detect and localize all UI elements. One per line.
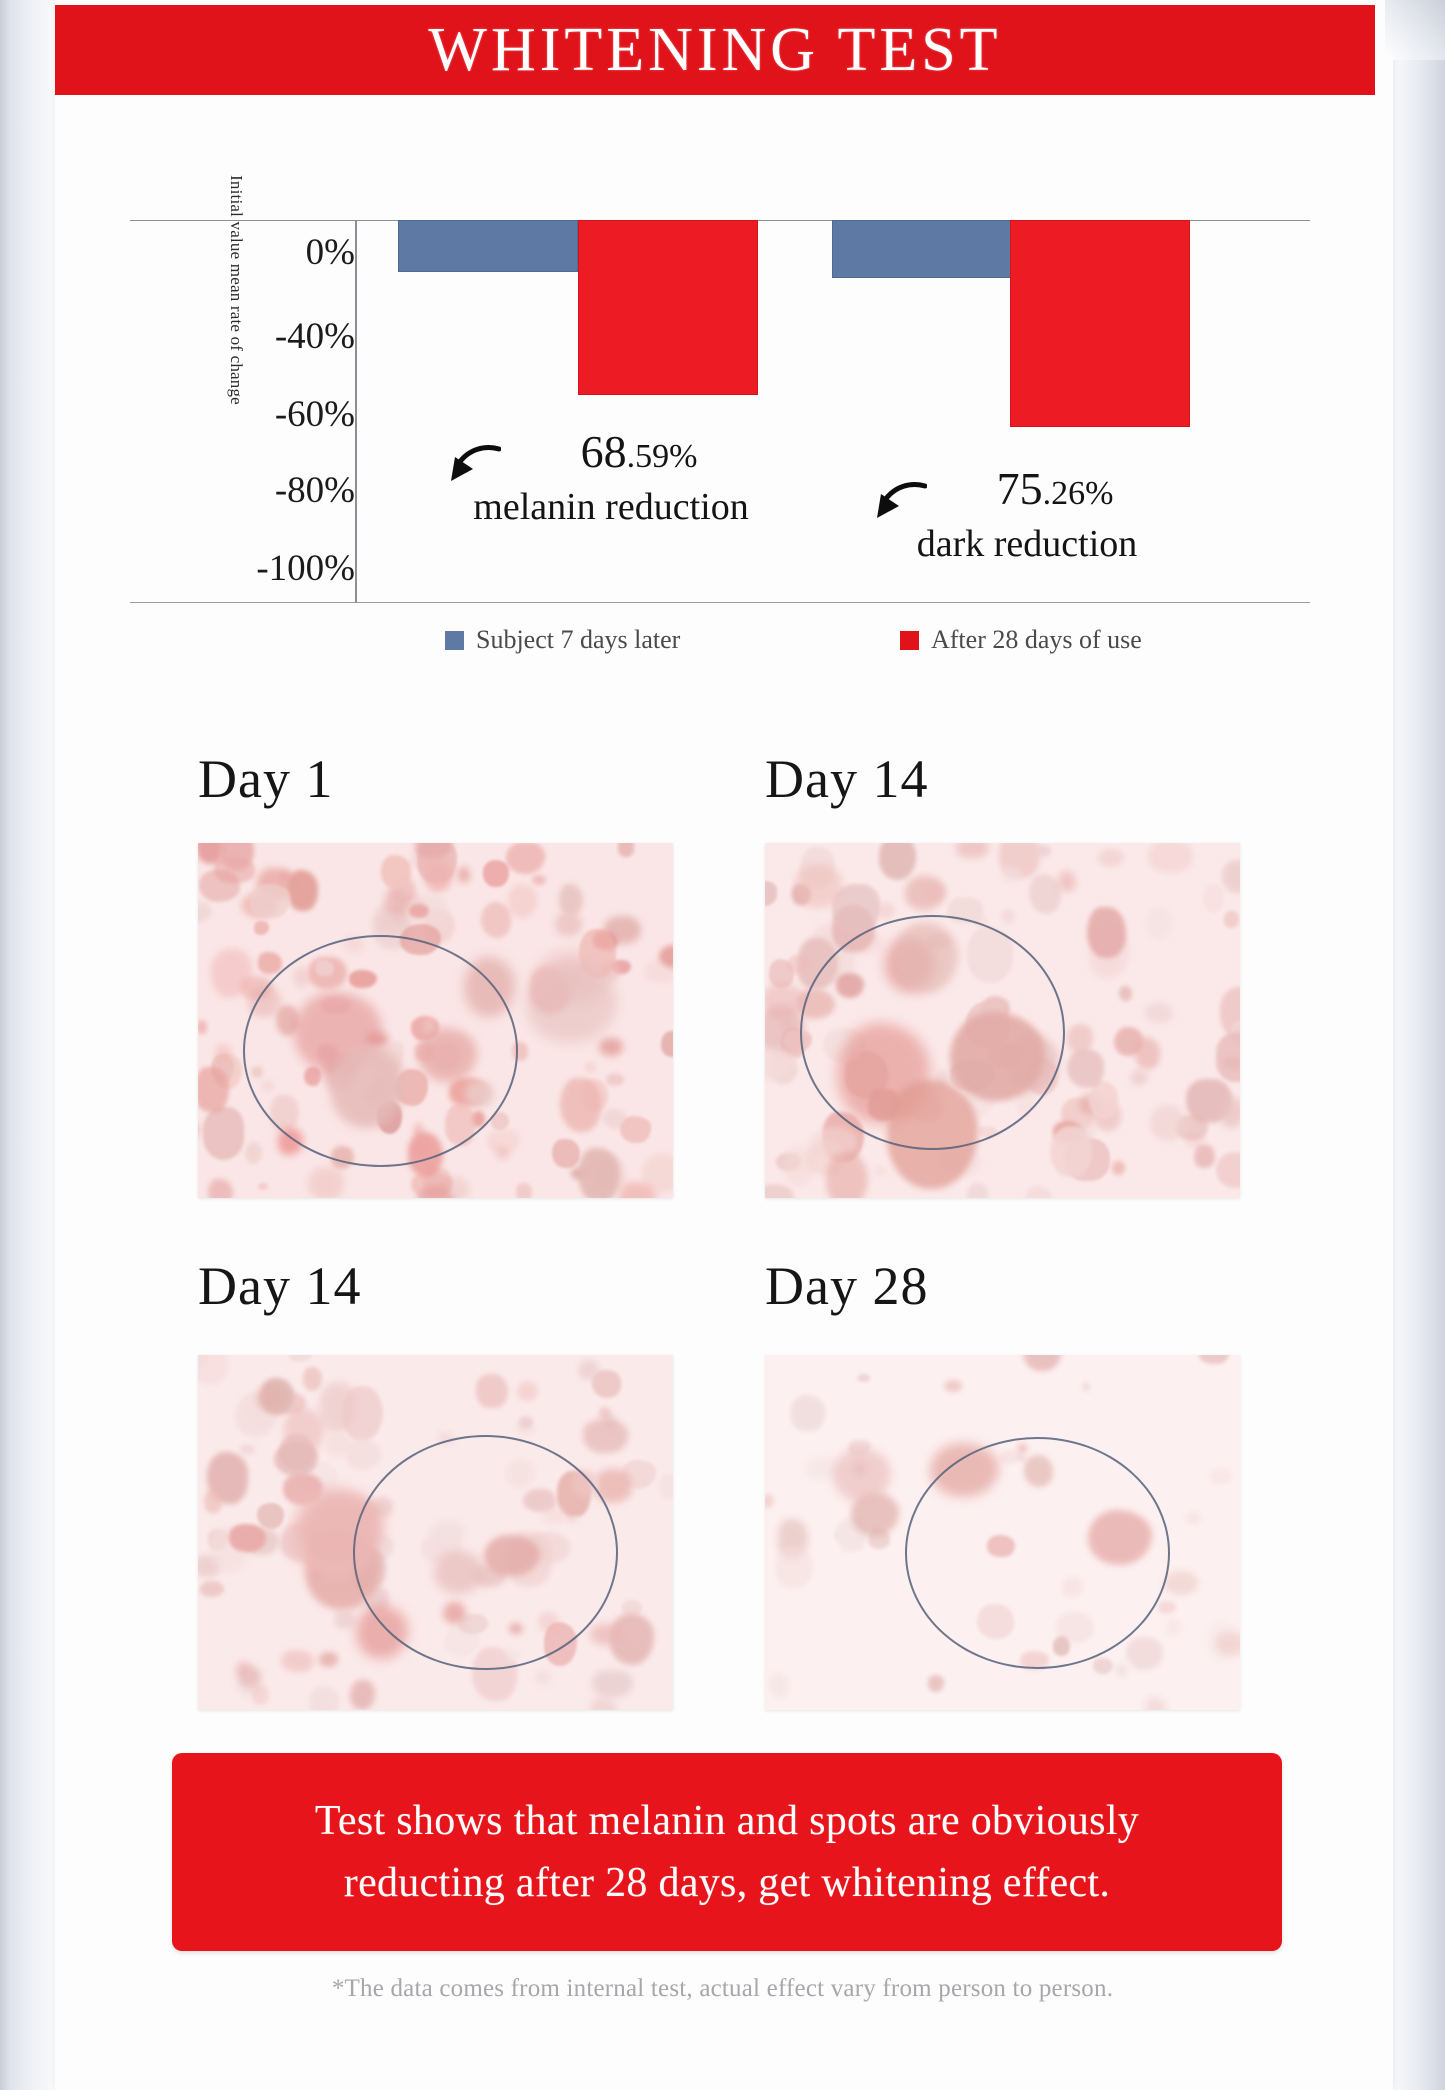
micrograph-cell-blob <box>967 1183 989 1199</box>
micrograph-cell-blob <box>203 1107 244 1160</box>
micrograph-cell-blob <box>1024 1186 1054 1198</box>
micrograph-cell-blob <box>350 1680 375 1710</box>
micrograph-cell-blob <box>1222 860 1240 893</box>
micrograph-cell-blob <box>483 860 509 888</box>
micrograph-cell-blob <box>346 1439 381 1470</box>
banner-line-2: reducting after 28 days, get whitening e… <box>344 1859 1110 1907</box>
micrograph-cell-blob <box>1082 1382 1090 1392</box>
micrograph-cell-blob <box>334 1611 355 1629</box>
micrograph-cell-blob <box>1186 1513 1201 1523</box>
annotation-melanin: 68.5968.59% melanin reduction <box>416 428 806 529</box>
micrograph-highlight-circle <box>905 1437 1170 1669</box>
micrograph-cell-blob <box>659 1474 673 1499</box>
micrograph-image-day14-b <box>198 1355 673 1710</box>
micrograph-cell-blob <box>1087 907 1125 958</box>
micrograph-cell-blob <box>254 921 269 935</box>
micrograph-cell-blob <box>606 1073 624 1087</box>
micrograph-cell-blob <box>1224 911 1239 928</box>
micrograph-cell-blob <box>496 1147 509 1159</box>
micrograph-cell-blob <box>308 1167 344 1198</box>
micrograph-cell-blob <box>1199 1355 1228 1364</box>
micrograph-cell-blob <box>1001 866 1022 883</box>
header-banner: WHITENING TEST <box>55 5 1375 95</box>
micrograph-cell-blob <box>236 1662 251 1676</box>
micrograph-cell-blob <box>274 1442 319 1476</box>
micrograph-cell-blob <box>1037 845 1051 857</box>
micrograph-cell-blob <box>1148 843 1193 873</box>
annotation-dark: 75.2675.26% dark reduction <box>832 465 1222 566</box>
micrograph-highlight-circle <box>353 1435 618 1670</box>
micrograph-cell-blob <box>1144 1003 1173 1023</box>
micrograph-cell-blob <box>599 1407 611 1419</box>
y-tick-label-60: -60% <box>175 396 355 433</box>
micrograph-cell-blob <box>1135 1037 1160 1069</box>
micrograph-cell-blob <box>257 1503 284 1529</box>
micrograph-cell-blob <box>252 1685 268 1705</box>
bar-chart: Initial value mean rate of change 0% -40… <box>130 220 1310 680</box>
conclusion-banner: Test shows that melanin and spots are ob… <box>172 1753 1282 1951</box>
micrograph-image-day28 <box>765 1355 1240 1710</box>
micrograph-cell-blob <box>956 843 989 858</box>
micrograph-cell-blob <box>517 1381 539 1401</box>
micrograph-cell-blob <box>424 860 453 892</box>
annotation-dark-value: 75.2675.26% <box>832 465 1222 516</box>
micrograph-cell-blob <box>590 1697 618 1710</box>
micrograph-cell-blob <box>578 1360 599 1380</box>
micrograph-cell-blob <box>198 1020 207 1034</box>
micrograph-cell-blob <box>1220 1097 1240 1127</box>
micrograph-cell-blob <box>1166 1619 1181 1635</box>
micrograph-cell-blob <box>526 966 617 1044</box>
micrograph-cell-blob <box>857 1374 870 1382</box>
legend-label-7days: Subject 7 days later <box>476 625 680 655</box>
micrograph-cell-blob <box>1058 871 1076 892</box>
micrograph-cell-blob <box>198 1355 229 1385</box>
micrograph-cell-blob <box>1029 874 1061 914</box>
micrograph-cell-blob <box>1093 1658 1113 1674</box>
micrograph-cell-blob <box>1116 1664 1127 1677</box>
micrograph-cell-blob <box>516 1183 532 1198</box>
y-tick-label-80: -80% <box>175 472 355 509</box>
y-axis-title: Initial value mean rate of change <box>226 160 246 420</box>
chart-plot-area: 68.5968.59% melanin reduction 75.2675.26… <box>356 220 1310 603</box>
micrograph-cell-blob <box>578 1148 619 1199</box>
micrograph-cell-blob <box>258 1183 269 1190</box>
micrograph-cell-blob <box>1194 1145 1216 1169</box>
micrograph-cell-blob <box>1024 1355 1061 1371</box>
micrograph-cell-blob <box>1215 1632 1240 1656</box>
page-corner-fold-decoration <box>1385 0 1445 60</box>
micrograph-cell-blob <box>555 912 582 936</box>
micrograph-cell-blob <box>281 1650 314 1672</box>
micrograph-cell-blob <box>559 884 583 916</box>
micrograph-cell-blob <box>1158 1601 1176 1614</box>
micrograph-cell-blob <box>258 952 282 974</box>
micrograph-cell-blob <box>592 1670 633 1697</box>
legend-item-7days: Subject 7 days later <box>445 625 680 655</box>
micrograph-cell-blob <box>924 884 944 901</box>
micrograph-cell-blob <box>1098 849 1125 867</box>
micrograph-highlight-circle <box>243 935 518 1167</box>
micrograph-cell-blob <box>1145 1697 1166 1710</box>
micrograph-cell-blob <box>1001 909 1016 924</box>
micrograph-image-day14-a <box>765 843 1240 1198</box>
micrograph-cell-blob <box>342 1386 384 1441</box>
micrograph-cell-blob <box>532 875 546 886</box>
micrograph-cell-blob <box>552 1139 579 1168</box>
banner-line-1: Test shows that melanin and spots are ob… <box>315 1797 1139 1845</box>
micrograph-cell-blob <box>319 1652 339 1667</box>
micrograph-cell-blob <box>506 843 545 874</box>
micrograph-cell-blob <box>198 1067 229 1112</box>
bar-series-7days-dark <box>832 220 1012 278</box>
micrograph-cell-blob <box>1210 1469 1232 1485</box>
micrograph-cell-blob <box>1067 1024 1093 1053</box>
annot-2-int: 75 <box>997 463 1043 514</box>
annotation-dark-label: dark reduction <box>832 524 1222 566</box>
micrograph-cell-blob <box>280 872 291 881</box>
micrograph-image-day1 <box>198 843 673 1198</box>
micrograph-cell-blob <box>585 1062 596 1073</box>
micrograph-cell-blob <box>250 884 290 917</box>
micrograph-cell-blob <box>1164 1571 1198 1594</box>
micrograph-cell-blob <box>200 1581 225 1598</box>
micrograph-cell-blob <box>381 855 411 889</box>
micrograph-highlight-circle <box>800 915 1065 1150</box>
micrograph-cell-blob <box>944 1380 962 1392</box>
y-tick-label-40: -40% <box>175 318 355 355</box>
micrograph-cell-blob <box>1119 986 1133 1001</box>
micrograph-cell-blob <box>582 1079 608 1112</box>
footnote-disclaimer: *The data comes from internal test, actu… <box>0 1975 1445 2003</box>
micrograph-cell-blob <box>1112 1161 1125 1175</box>
curved-arrow-icon-2 <box>871 480 927 526</box>
micrograph-cell-blob <box>631 1478 648 1489</box>
micrograph-cell-blob <box>288 870 318 911</box>
micrograph-cell-blob <box>309 1686 341 1710</box>
micrograph-cell-blob <box>240 1444 256 1455</box>
annotation-melanin-label: melanin reduction <box>416 487 806 529</box>
micrograph-cell-blob <box>204 1490 222 1513</box>
micrograph-cell-blob <box>879 843 916 880</box>
y-tick-label-100: -100% <box>175 550 355 587</box>
micrograph-cell-blob <box>208 1179 232 1198</box>
bar-series-7days-melanin <box>398 220 578 272</box>
micrograph-cell-blob <box>661 1031 673 1057</box>
micrograph-cell-blob <box>1203 884 1224 912</box>
micrograph-cell-blob <box>1216 1152 1240 1188</box>
page-title: WHITENING TEST <box>428 15 1001 86</box>
micrograph-cell-blob <box>874 1167 887 1175</box>
micrograph-cell-blob <box>1150 1105 1186 1142</box>
micrograph-cell-blob <box>583 1419 629 1452</box>
micrograph-cell-blob <box>1075 1121 1095 1141</box>
micrograph-cell-blob <box>508 885 537 918</box>
micrograph-cell-blob <box>1146 907 1174 939</box>
micrograph-cell-blob <box>769 1672 790 1698</box>
micrograph-cell-blob <box>628 1623 646 1640</box>
day-label-3: Day 14 <box>198 1255 361 1317</box>
micrograph-cell-blob <box>1131 1070 1148 1085</box>
micrograph-cell-blob <box>791 1395 825 1431</box>
bar-series-28days-melanin <box>578 220 758 395</box>
bar-series-28days-dark <box>1010 220 1190 427</box>
micrograph-cell-blob <box>765 881 777 907</box>
micrograph-cell-blob <box>535 1671 551 1684</box>
y-tick-label-0: 0% <box>175 234 355 271</box>
page-background: WHITENING TEST Initial value mean rate o… <box>0 0 1445 2090</box>
micrograph-cell-blob <box>303 1367 322 1390</box>
micrograph-cell-blob <box>1126 1637 1163 1670</box>
annot-1-int: 68 <box>581 426 627 477</box>
chart-legend: Subject 7 days later After 28 days of us… <box>130 625 1310 665</box>
micrograph-cell-blob <box>928 1675 944 1693</box>
day-label-2: Day 14 <box>765 748 928 810</box>
legend-label-28days: After 28 days of use <box>931 625 1142 655</box>
annotation-melanin-value: 68.5968.59% <box>416 428 806 479</box>
micrograph-cell-blob <box>198 1122 200 1137</box>
micrograph-cell-blob <box>198 902 212 921</box>
day-label-4: Day 28 <box>765 1255 928 1317</box>
micrograph-cell-blob <box>229 1524 266 1551</box>
micrograph-cell-blob <box>215 1044 232 1061</box>
annot-2-dec: .26% <box>1043 475 1114 512</box>
micrograph-cell-blob <box>1216 1032 1241 1082</box>
legend-swatch-blue-icon <box>445 631 464 650</box>
annot-1-dec: .59% <box>627 438 698 475</box>
micrograph-cell-blob <box>481 902 510 938</box>
curved-arrow-icon <box>445 443 501 489</box>
micrograph-cell-blob <box>775 1546 813 1589</box>
micrograph-cell-blob <box>1067 1049 1104 1089</box>
micrograph-cell-blob <box>458 867 470 883</box>
micrograph-cell-blob <box>765 1184 794 1199</box>
micrograph-cell-blob <box>245 1142 262 1163</box>
micrograph-cell-blob <box>258 1383 287 1411</box>
micrograph-cell-blob <box>826 1151 868 1198</box>
micrograph-cell-blob <box>599 1038 623 1056</box>
micrograph-cell-blob <box>795 864 842 908</box>
legend-swatch-red-icon <box>900 631 919 650</box>
micrograph-cell-blob <box>289 1355 313 1362</box>
micrograph-cell-blob <box>765 1494 774 1508</box>
legend-item-28days: After 28 days of use <box>900 625 1142 655</box>
micrograph-cell-blob <box>590 1624 624 1646</box>
micrograph-cell-blob <box>878 902 895 919</box>
micrograph-cell-blob <box>618 843 635 857</box>
micrograph-cell-blob <box>476 1374 508 1408</box>
day-label-1: Day 1 <box>198 748 333 810</box>
